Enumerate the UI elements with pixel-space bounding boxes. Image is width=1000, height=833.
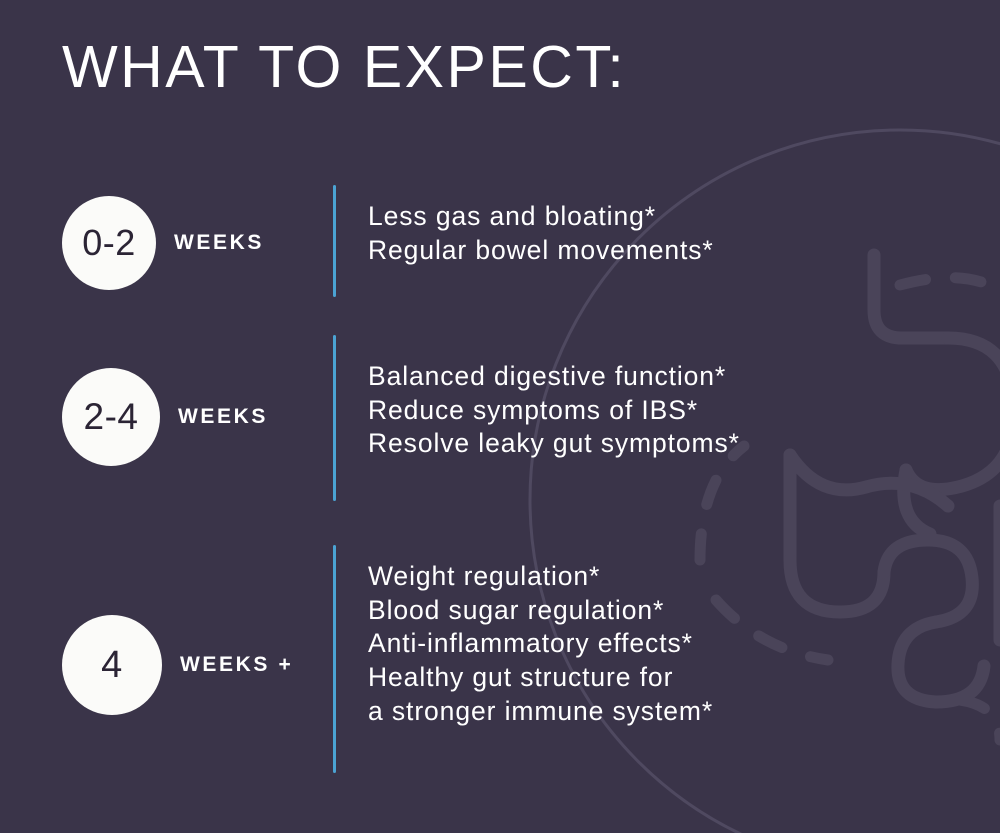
list-item: Resolve leaky gut symptoms*	[368, 427, 740, 461]
stage-label-group: 0-2 WEEKS	[62, 196, 264, 290]
list-item: Blood sugar regulation*	[368, 594, 713, 628]
list-item: Healthy gut structure for a stronger imm…	[368, 661, 713, 728]
infographic-page: WHAT TO EXPECT: 0-2 WEEKS Less gas and b…	[0, 0, 1000, 833]
list-item: Less gas and bloating*	[368, 200, 714, 234]
stage-unit-label: WEEKS	[178, 405, 268, 429]
list-item: Anti-inflammatory effects*	[368, 627, 713, 661]
page-title: WHAT TO EXPECT:	[62, 38, 626, 97]
benefit-list: Weight regulation* Blood sugar regulatio…	[368, 560, 713, 728]
stage-range-badge: 2-4	[62, 368, 160, 466]
stage-label-group: 4 WEEKS +	[62, 615, 293, 715]
list-item: Regular bowel movements*	[368, 234, 714, 268]
benefit-list: Less gas and bloating* Regular bowel mov…	[368, 200, 714, 267]
list-item: Balanced digestive function*	[368, 360, 740, 394]
accent-divider	[333, 545, 336, 773]
stage-label-group: 2-4 WEEKS	[62, 368, 268, 466]
accent-divider	[333, 335, 336, 501]
benefit-list: Balanced digestive function* Reduce symp…	[368, 360, 740, 461]
stage-unit-label: WEEKS	[174, 231, 264, 255]
stage-range-badge: 4	[62, 615, 162, 715]
list-item: Weight regulation*	[368, 560, 713, 594]
stage-unit-label: WEEKS +	[180, 653, 293, 677]
accent-divider	[333, 185, 336, 297]
list-item: Reduce symptoms of IBS*	[368, 394, 740, 428]
stage-range-badge: 0-2	[62, 196, 156, 290]
